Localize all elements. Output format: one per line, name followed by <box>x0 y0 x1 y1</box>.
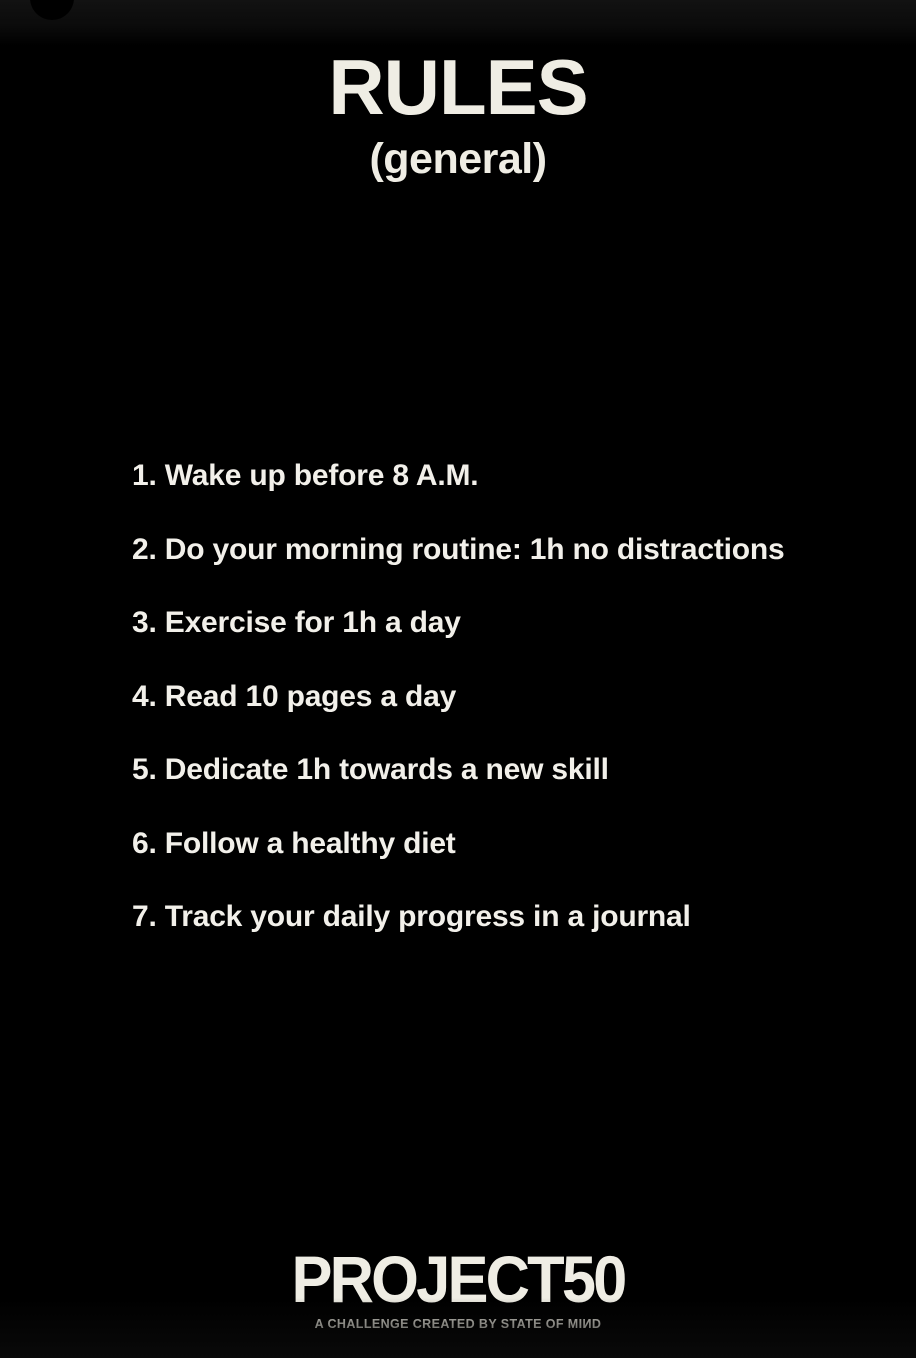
list-item: 5. Dedicate 1h towards a new skill <box>132 750 872 824</box>
brand-footer: PROJECT50 A CHALLENGE CREATED BY STATE O… <box>0 1246 916 1331</box>
rule-number: 5. <box>132 753 157 786</box>
corner-orb-decoration <box>30 0 74 20</box>
rule-number: 4. <box>132 680 157 713</box>
rule-number: 7. <box>132 900 157 933</box>
list-item: 6. Follow a healthy diet <box>132 824 872 898</box>
top-edge-gradient <box>0 0 916 46</box>
list-item: 7. Track your daily progress in a journa… <box>132 897 872 971</box>
page-title: RULES <box>0 48 916 126</box>
list-item: 1. Wake up before 8 A.M. <box>132 456 872 530</box>
rules-list: 1. Wake up before 8 A.M. 2. Do your morn… <box>132 456 872 971</box>
rule-text: Track your daily progress in a journal <box>165 900 691 933</box>
rule-text: Wake up before 8 A.M. <box>165 459 479 492</box>
page-subtitle: (general) <box>0 138 916 181</box>
rule-text: Read 10 pages a day <box>165 680 456 713</box>
tagline-part-two: D <box>592 1317 601 1331</box>
rule-number: 6. <box>132 827 157 860</box>
brand-tagline: A CHALLENGE CREATED BY STATE OF MIND <box>0 1318 916 1331</box>
list-item: 4. Read 10 pages a day <box>132 677 872 751</box>
project50-wordmark: PROJECT50 <box>32 1246 884 1312</box>
rule-text: Follow a healthy diet <box>165 827 456 860</box>
rule-number: 3. <box>132 606 157 639</box>
rule-text: Do your morning routine: 1h no distracti… <box>165 533 785 566</box>
list-item: 2. Do your morning routine: 1h no distra… <box>132 530 872 604</box>
rule-text: Dedicate 1h towards a new skill <box>165 753 609 786</box>
slide-canvas: RULES (general) 1. Wake up before 8 A.M.… <box>0 0 916 1358</box>
header: RULES (general) <box>0 48 916 181</box>
rule-number: 1. <box>132 459 157 492</box>
list-item: 3. Exercise for 1h a day <box>132 603 872 677</box>
tagline-part-one: A CHALLENGE CREATED BY STATE OF MI <box>315 1317 583 1331</box>
rule-text: Exercise for 1h a day <box>165 606 461 639</box>
tagline-reversed-n-glyph: N <box>582 1318 591 1331</box>
rule-number: 2. <box>132 533 157 566</box>
